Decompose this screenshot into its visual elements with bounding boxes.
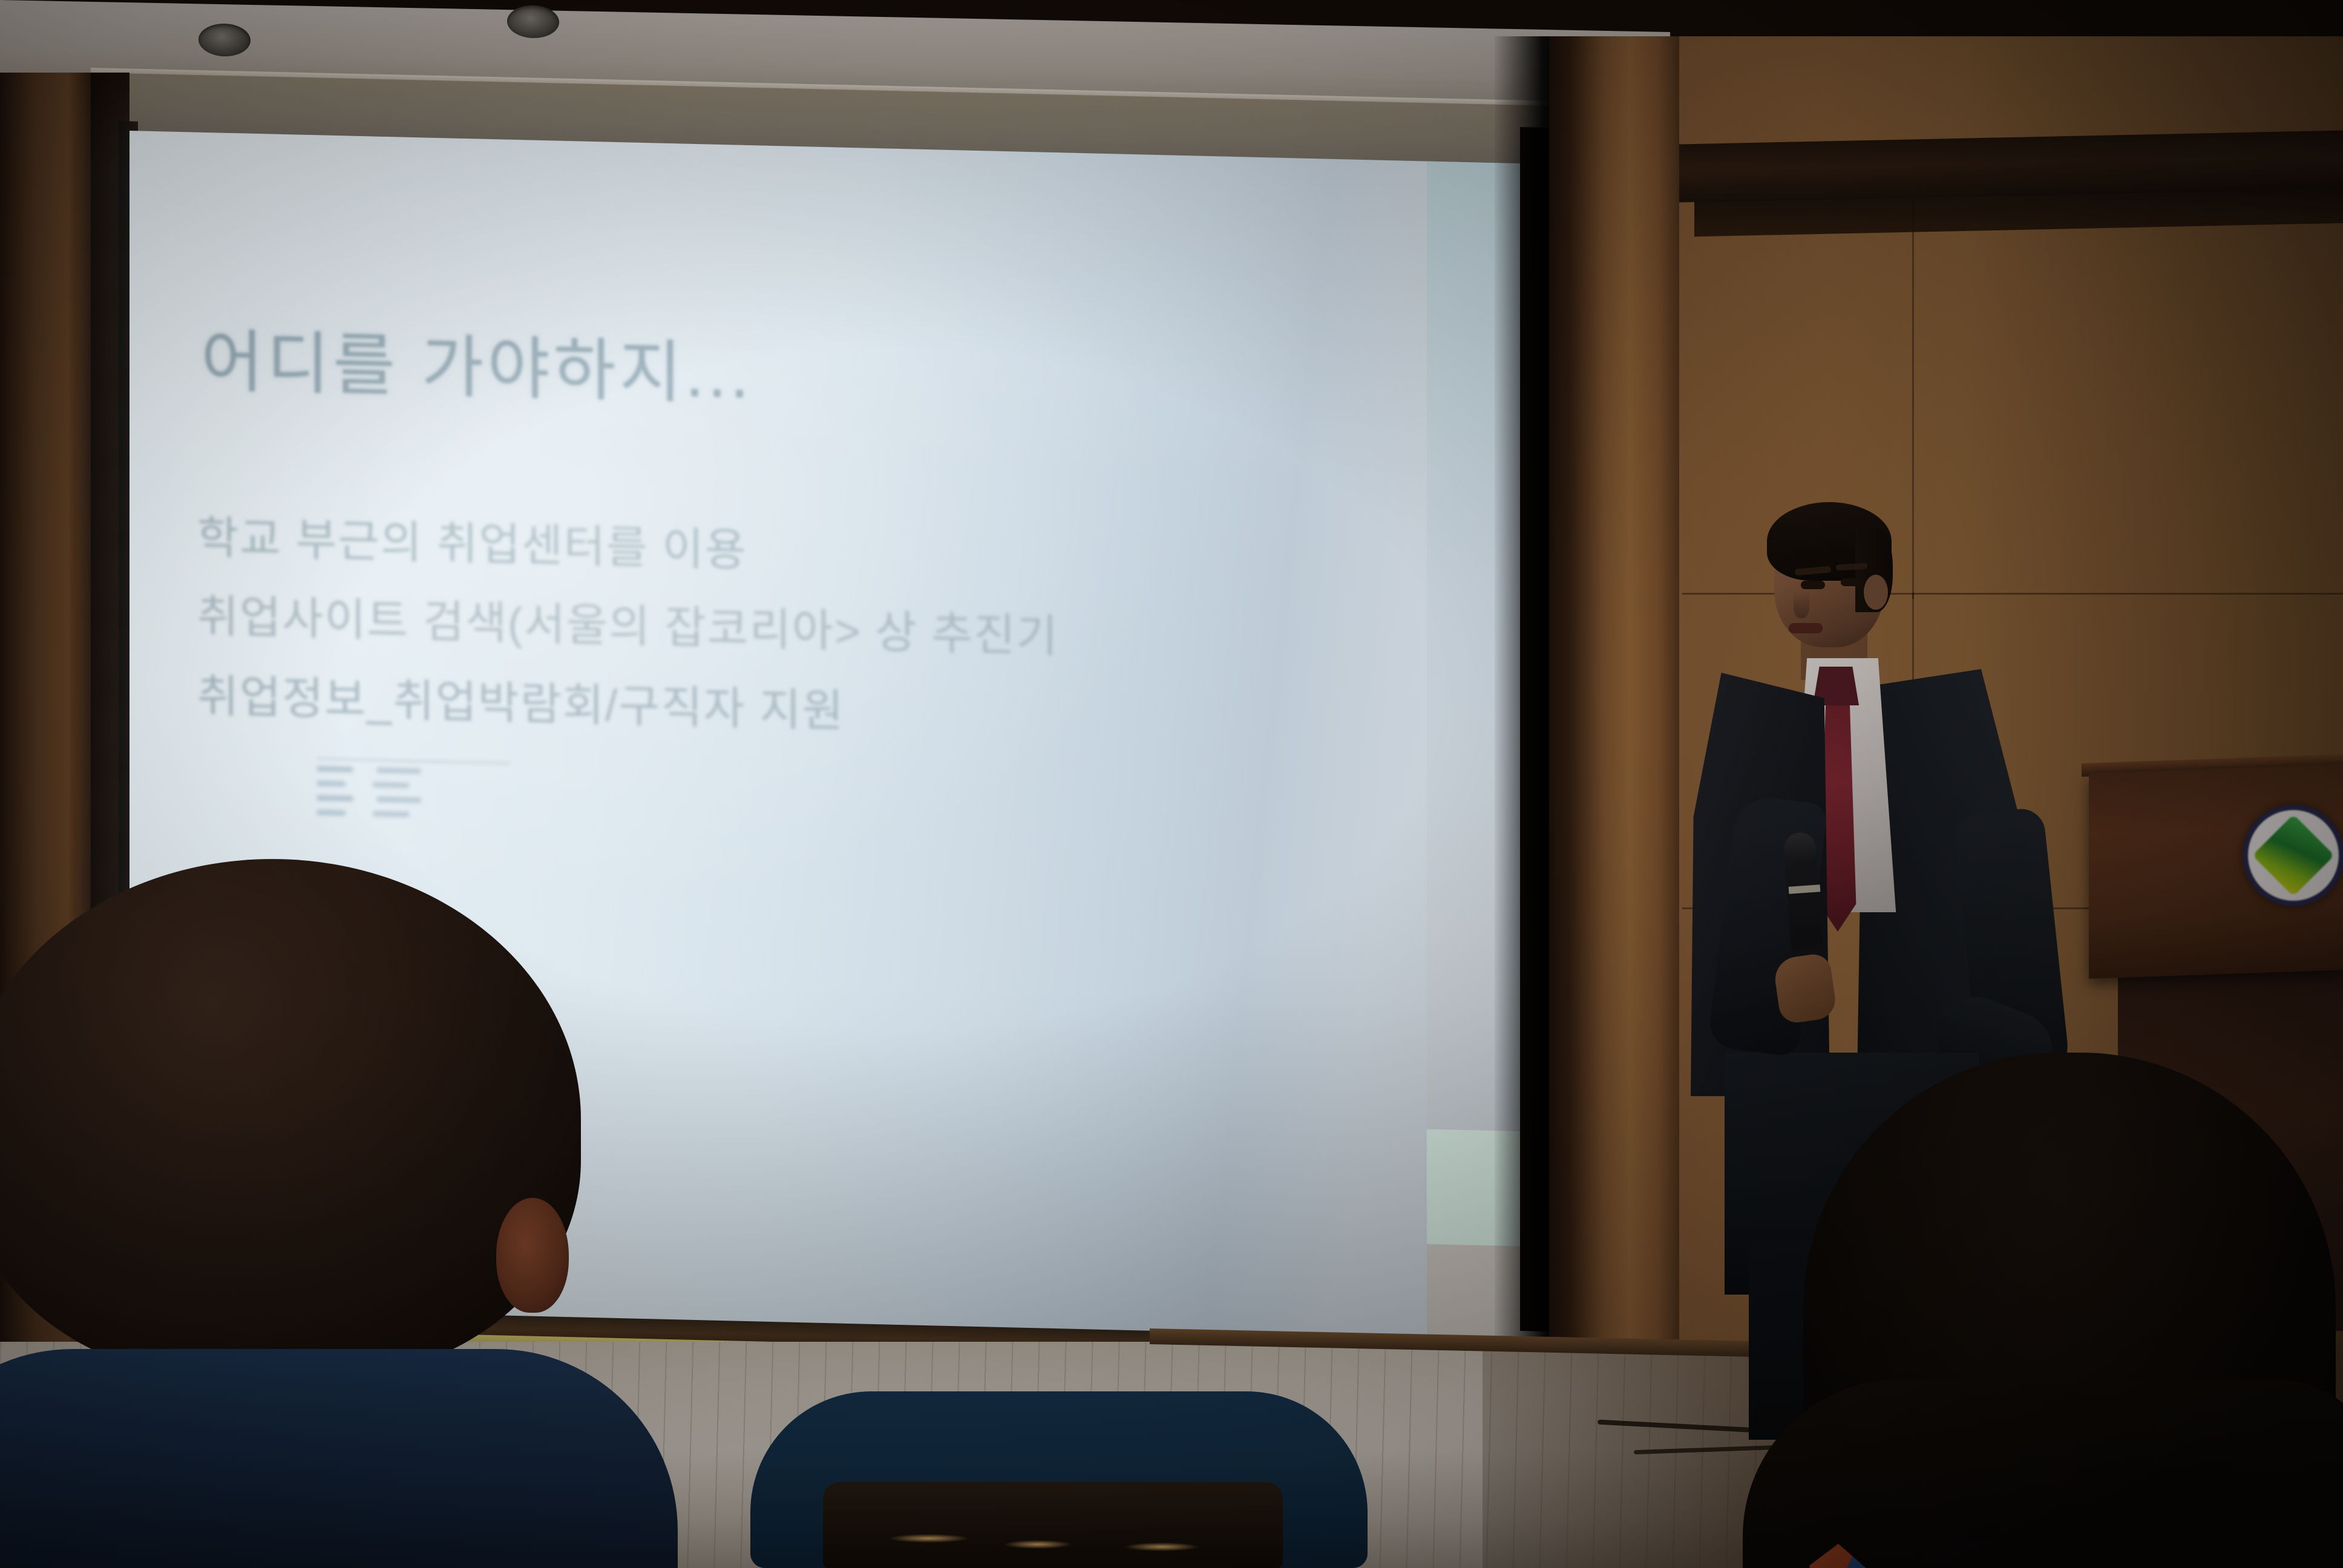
slide-mini-table <box>317 758 517 829</box>
table-row <box>317 795 517 805</box>
presenter-nose <box>1794 592 1809 618</box>
slide-bullet-line-1: 학교 부근의 취업센터를 이용 <box>197 501 747 579</box>
chair-seat-shadow <box>823 1482 1283 1568</box>
audience-chair <box>750 1391 1368 1568</box>
presenter-eye <box>1801 581 1825 589</box>
slide-bullet-line-3: 취업정보_취업박람회/구직자 지원 <box>197 660 844 740</box>
audience-member-left <box>0 859 617 1568</box>
audience-head <box>0 859 581 1379</box>
institution-emblem-icon <box>2243 805 2343 906</box>
table-row <box>317 780 517 791</box>
presenter-mouth <box>1789 623 1823 633</box>
presenter-ear <box>1864 575 1888 610</box>
downlight-icon <box>507 5 559 39</box>
slide-bullet-line-2: 취업사이트 검색(서울의 잡코리아> 상 추진기 <box>197 580 1059 665</box>
audience-member-right <box>1719 1053 2343 1568</box>
chair-highlight <box>890 1534 968 1543</box>
table-rule <box>317 758 511 764</box>
lecture-hall-scene: 어디를 가야하지... 학교 부근의 취업센터를 이용 취업사이트 검색(서울의… <box>0 0 2343 1568</box>
presenter-eye <box>1841 578 1864 586</box>
audience-shoulders <box>1743 1379 2343 1568</box>
chair-highlight <box>1126 1543 1198 1551</box>
presenter-hand-holding-mic <box>1772 952 1838 1025</box>
table-row <box>317 809 517 820</box>
table-row <box>317 766 517 776</box>
audience-ear <box>496 1198 569 1313</box>
slide-title: 어디를 가야하지... <box>201 307 753 417</box>
emblem-mark <box>2252 814 2335 897</box>
center-wall-pillar <box>1549 36 1679 1422</box>
pillar-cast-shadow <box>1495 36 1554 1422</box>
downlight-icon <box>198 23 251 57</box>
audience-shoulders <box>0 1349 678 1568</box>
chair-highlight <box>1004 1540 1071 1549</box>
